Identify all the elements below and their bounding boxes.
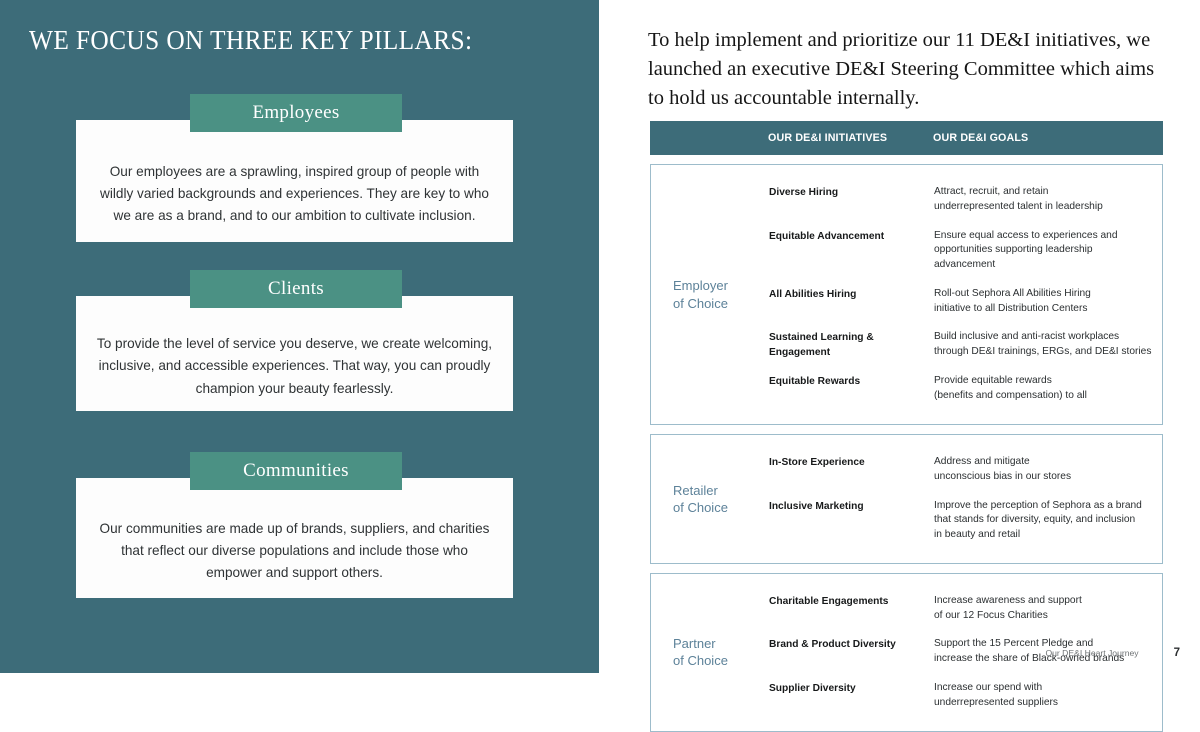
pillar-body: To provide the level of service you dese… bbox=[76, 296, 513, 411]
column-header-initiatives: OUR DE&I INITIATIVES bbox=[768, 132, 933, 144]
initiative-cell: Equitable Rewards bbox=[769, 374, 934, 389]
column-header-goals: OUR DE&I GOALS bbox=[933, 132, 1163, 144]
table-row: Diverse HiringAttract, recruit, and reta… bbox=[769, 178, 1162, 222]
left-panel: WE FOCUS ON THREE KEY PILLARS: Our emplo… bbox=[0, 0, 599, 673]
goal-cell: Improve the perception of Sephora as a b… bbox=[934, 499, 1162, 543]
goal-cell: Roll-out Sephora All Abilities Hiringini… bbox=[934, 287, 1162, 317]
section-label: Employerof Choice bbox=[651, 165, 769, 424]
goal-cell: Build inclusive and anti-racist workplac… bbox=[934, 330, 1162, 360]
initiative-cell: Equitable Advancement bbox=[769, 229, 934, 244]
section-rows: In-Store ExperienceAddress and mitigateu… bbox=[769, 435, 1162, 563]
goal-cell: Provide equitable rewards(benefits and c… bbox=[934, 374, 1162, 404]
section-heading: To help implement and prioritize our 11 … bbox=[648, 26, 1168, 113]
goal-cell: Ensure equal access to experiences andop… bbox=[934, 229, 1162, 273]
table-section: Employerof ChoiceDiverse HiringAttract, … bbox=[650, 164, 1163, 425]
initiative-cell: Supplier Diversity bbox=[769, 681, 934, 696]
section-label: Retailerof Choice bbox=[651, 435, 769, 563]
pillar-body: Our communities are made up of brands, s… bbox=[76, 478, 513, 598]
initiative-cell: Diverse Hiring bbox=[769, 185, 934, 200]
goal-cell: Increase awareness and supportof our 12 … bbox=[934, 594, 1162, 624]
goal-cell: Address and mitigateunconscious bias in … bbox=[934, 455, 1162, 485]
table-row: Sustained Learning &EngagementBuild incl… bbox=[769, 323, 1162, 367]
initiative-cell: In-Store Experience bbox=[769, 455, 934, 470]
section-label: Partnerof Choice bbox=[651, 574, 769, 731]
pillar-tab-label: Communities bbox=[190, 452, 402, 490]
table-row: Inclusive MarketingImprove the perceptio… bbox=[769, 492, 1162, 550]
section-rows: Diverse HiringAttract, recruit, and reta… bbox=[769, 165, 1162, 424]
pillar-tab-label: Clients bbox=[190, 270, 402, 308]
page-number: 7 bbox=[1174, 647, 1180, 659]
table-header-row: OUR DE&I INITIATIVES OUR DE&I GOALS bbox=[650, 121, 1163, 155]
footer: Our DE&I Heart Journey 7 bbox=[1045, 647, 1180, 659]
slide: WE FOCUS ON THREE KEY PILLARS: Our emplo… bbox=[0, 0, 1200, 673]
right-panel: To help implement and prioritize our 11 … bbox=[599, 0, 1200, 673]
pillar-tab-label: Employees bbox=[190, 94, 402, 132]
table-row: In-Store ExperienceAddress and mitigateu… bbox=[769, 448, 1162, 492]
table-row: All Abilities HiringRoll-out Sephora All… bbox=[769, 280, 1162, 324]
initiative-cell: All Abilities Hiring bbox=[769, 287, 934, 302]
table-row: Supplier DiversityIncrease our spend wit… bbox=[769, 674, 1162, 718]
dei-initiatives-table: OUR DE&I INITIATIVES OUR DE&I GOALS Empl… bbox=[650, 121, 1163, 732]
goal-cell: Increase our spend withunderrepresented … bbox=[934, 681, 1162, 711]
initiative-cell: Inclusive Marketing bbox=[769, 499, 934, 514]
goal-cell: Attract, recruit, and retainunderreprese… bbox=[934, 185, 1162, 215]
table-row: Charitable EngagementsIncrease awareness… bbox=[769, 587, 1162, 631]
initiative-cell: Sustained Learning &Engagement bbox=[769, 330, 934, 360]
table-row: Equitable AdvancementEnsure equal access… bbox=[769, 222, 1162, 280]
page-title: WE FOCUS ON THREE KEY PILLARS: bbox=[29, 25, 472, 56]
table-section: Retailerof ChoiceIn-Store ExperienceAddr… bbox=[650, 434, 1163, 564]
table-row: Equitable RewardsProvide equitable rewar… bbox=[769, 367, 1162, 411]
initiative-cell: Charitable Engagements bbox=[769, 594, 934, 609]
footer-label: Our DE&I Heart Journey bbox=[1045, 648, 1138, 658]
initiative-cell: Brand & Product Diversity bbox=[769, 637, 934, 652]
pillar-body: Our employees are a sprawling, inspired … bbox=[76, 120, 513, 242]
